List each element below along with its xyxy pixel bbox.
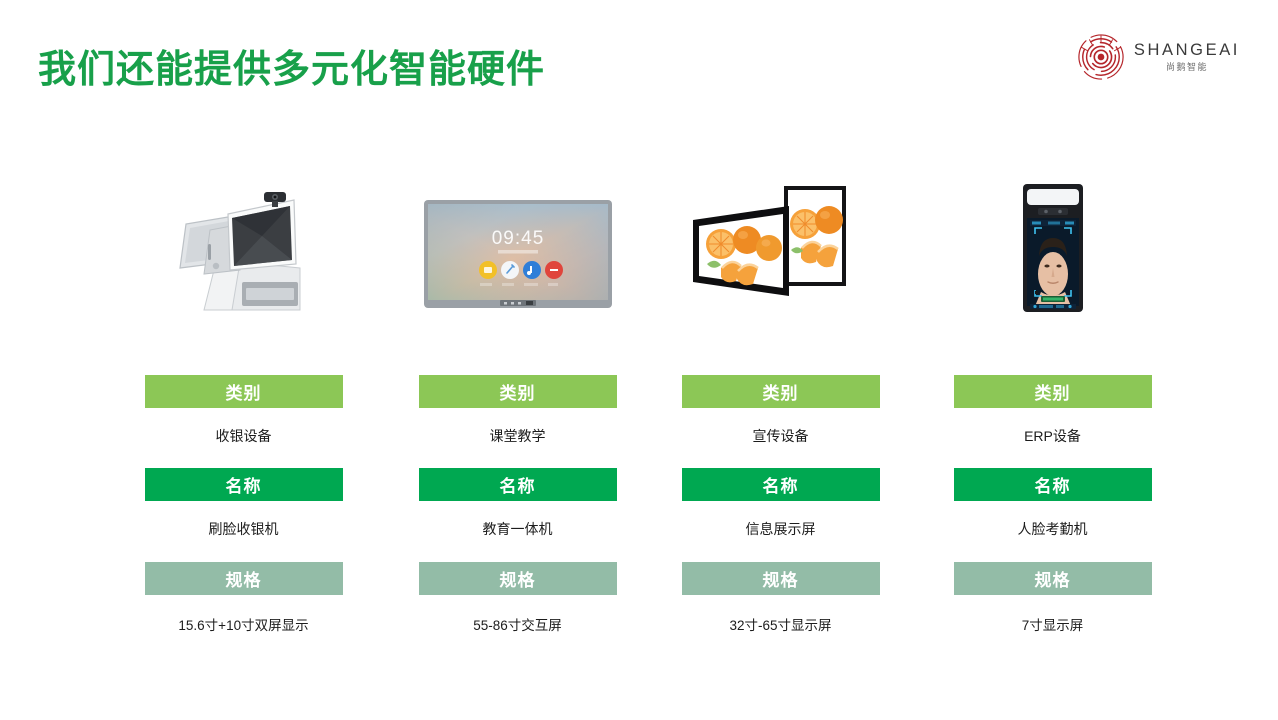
bar-category: 类别	[954, 375, 1152, 408]
value-spec: 55-86寸交互屏	[473, 614, 562, 634]
brand-name: SHANGEAI	[1134, 42, 1240, 59]
digital-signage-displays-icon	[661, 170, 901, 335]
pos-terminal-dual-screen-icon	[124, 170, 364, 335]
bar-spec: 规格	[419, 562, 617, 595]
svg-text:09:45: 09:45	[491, 228, 544, 249]
face-recognition-attendance-terminal-icon	[933, 170, 1173, 335]
brand-name-cn: 尚鹅智能	[1166, 63, 1208, 72]
product-column-4: 类别 ERP设备 名称 人脸考勤机 规格 7寸显示屏	[921, 170, 1184, 634]
value-name: 刷脸收银机	[209, 519, 279, 539]
bar-name: 名称	[419, 468, 617, 501]
product-column-1: 类别 收银设备 名称 刷脸收银机 规格 15.6寸+10寸双屏显示	[112, 170, 375, 634]
fingerprint-circle-logo-icon	[1077, 33, 1125, 81]
value-category: 收银设备	[216, 426, 272, 446]
product-column-3: 类别 宣传设备 名称 信息展示屏 规格 32寸-65寸显示屏	[649, 170, 912, 634]
value-category: ERP设备	[1024, 426, 1081, 446]
bar-name: 名称	[145, 468, 343, 501]
interactive-flat-panel-icon: 09:45	[398, 170, 638, 335]
bar-spec: 规格	[954, 562, 1152, 595]
value-spec: 32寸-65寸显示屏	[729, 614, 831, 634]
value-spec: 15.6寸+10寸双屏显示	[178, 614, 308, 634]
bar-spec: 规格	[682, 562, 880, 595]
value-name: 人脸考勤机	[1018, 519, 1088, 539]
value-spec: 7寸显示屏	[1022, 614, 1084, 634]
slide-root: 我们还能提供多元化智能硬件 SHANGEAI	[0, 0, 1278, 720]
brand-logo: SHANGEAI 尚鹅智能	[1077, 33, 1240, 81]
product-columns: 类别 收银设备 名称 刷脸收银机 规格 15.6寸+10寸双屏显示	[0, 170, 1278, 634]
page-title: 我们还能提供多元化智能硬件	[38, 38, 545, 93]
brand-logo-text: SHANGEAI 尚鹅智能	[1134, 42, 1240, 72]
value-category: 宣传设备	[753, 426, 809, 446]
product-column-2: 09:45	[386, 170, 649, 634]
bar-spec: 规格	[145, 562, 343, 595]
bar-name: 名称	[954, 468, 1152, 501]
value-name: 教育一体机	[483, 519, 553, 539]
bar-name: 名称	[682, 468, 880, 501]
bar-category: 类别	[145, 375, 343, 408]
bar-category: 类别	[419, 375, 617, 408]
value-category: 课堂教学	[490, 426, 546, 446]
value-name: 信息展示屏	[746, 519, 816, 539]
bar-category: 类别	[682, 375, 880, 408]
